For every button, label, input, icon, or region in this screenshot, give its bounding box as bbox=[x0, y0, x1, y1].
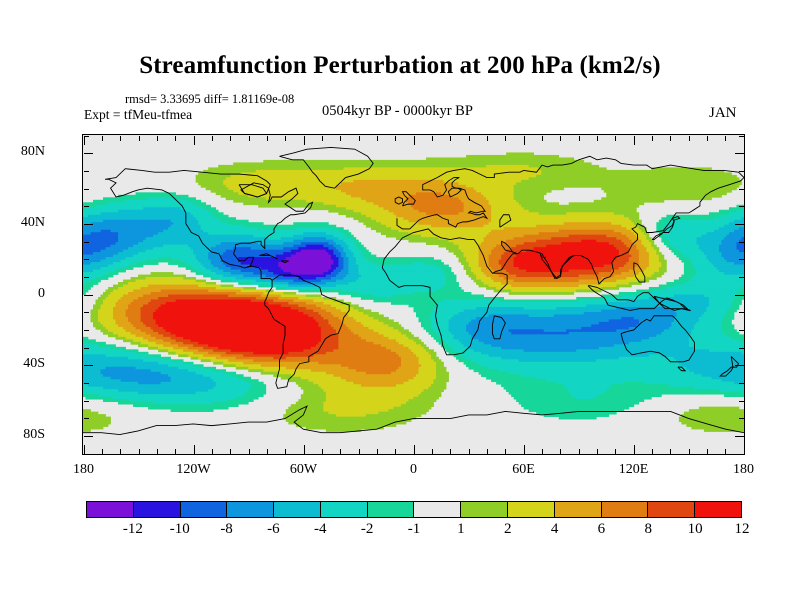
colorbar-tick-label: -8 bbox=[202, 521, 252, 538]
tick-mark bbox=[84, 295, 93, 296]
tick-mark bbox=[84, 418, 89, 419]
tick-mark bbox=[739, 348, 744, 349]
tick-mark bbox=[84, 436, 93, 437]
tick-mark bbox=[340, 449, 341, 454]
colorbar-tick-label: -12 bbox=[108, 521, 158, 538]
colorbar-tick-label: 2 bbox=[483, 521, 533, 538]
colorbar bbox=[86, 501, 742, 518]
tick-mark bbox=[157, 136, 158, 141]
tick-mark bbox=[707, 136, 708, 141]
tick-mark bbox=[739, 242, 744, 243]
tick-mark bbox=[84, 383, 89, 384]
colorbar-swatch bbox=[602, 502, 649, 517]
tick-mark bbox=[102, 449, 103, 454]
tick-mark bbox=[120, 136, 121, 141]
tick-mark bbox=[670, 136, 671, 141]
tick-mark bbox=[744, 445, 745, 454]
tick-mark bbox=[212, 136, 213, 141]
tick-mark bbox=[84, 224, 93, 225]
tick-mark bbox=[377, 449, 378, 454]
tick-mark bbox=[615, 136, 616, 141]
y-tick-label: 40S bbox=[0, 357, 45, 371]
tick-mark bbox=[120, 449, 121, 454]
tick-mark bbox=[377, 136, 378, 141]
tick-mark bbox=[194, 445, 195, 454]
tick-mark bbox=[634, 136, 635, 145]
tick-mark bbox=[739, 136, 744, 137]
tick-mark bbox=[739, 277, 744, 278]
tick-mark bbox=[285, 449, 286, 454]
experiment-annotation: Expt = tfMeu-tfmea bbox=[84, 107, 192, 123]
tick-mark bbox=[739, 189, 744, 190]
tick-mark bbox=[84, 206, 89, 207]
colorbar-tick-label: -2 bbox=[342, 521, 392, 538]
tick-mark bbox=[175, 136, 176, 141]
tick-mark bbox=[560, 449, 561, 454]
tick-mark bbox=[689, 449, 690, 454]
colorbar-swatch bbox=[227, 502, 274, 517]
tick-mark bbox=[739, 383, 744, 384]
tick-mark bbox=[615, 449, 616, 454]
tick-mark bbox=[322, 449, 323, 454]
tick-mark bbox=[735, 153, 744, 154]
tick-mark bbox=[139, 449, 140, 454]
tick-mark bbox=[84, 445, 85, 454]
y-tick-label: 80S bbox=[0, 428, 45, 442]
colorbar-swatch bbox=[414, 502, 461, 517]
tick-mark bbox=[267, 449, 268, 454]
figure-canvas: Streamfunction Perturbation at 200 hPa (… bbox=[0, 0, 800, 600]
tick-mark bbox=[450, 136, 451, 141]
tick-mark bbox=[84, 171, 89, 172]
y-tick-label: 80N bbox=[0, 145, 45, 159]
colorbar-swatch bbox=[508, 502, 555, 517]
tick-mark bbox=[735, 224, 744, 225]
x-tick-label: 120E bbox=[594, 462, 674, 478]
colorbar-swatch bbox=[134, 502, 181, 517]
tick-mark bbox=[505, 136, 506, 141]
tick-mark bbox=[230, 136, 231, 141]
tick-mark bbox=[735, 295, 744, 296]
x-tick-label: 180 bbox=[704, 462, 784, 478]
tick-mark bbox=[542, 136, 543, 141]
x-tick-label: 120W bbox=[154, 462, 234, 478]
x-tick-label: 60W bbox=[264, 462, 344, 478]
tick-mark bbox=[739, 401, 744, 402]
colorbar-swatch bbox=[274, 502, 321, 517]
colorbar-tick-label: 6 bbox=[576, 521, 626, 538]
tick-mark bbox=[505, 449, 506, 454]
tick-mark bbox=[285, 136, 286, 141]
tick-mark bbox=[652, 449, 653, 454]
tick-mark bbox=[739, 454, 744, 455]
tick-mark bbox=[84, 153, 93, 154]
tick-mark bbox=[84, 330, 89, 331]
tick-mark bbox=[739, 330, 744, 331]
tick-mark bbox=[524, 136, 525, 145]
x-tick-label: 0 bbox=[374, 462, 454, 478]
colorbar-tick-label: 1 bbox=[436, 521, 486, 538]
tick-mark bbox=[739, 206, 744, 207]
tick-mark bbox=[230, 449, 231, 454]
tick-mark bbox=[84, 277, 89, 278]
tick-mark bbox=[267, 136, 268, 141]
tick-mark bbox=[102, 136, 103, 141]
tick-mark bbox=[432, 449, 433, 454]
tick-mark bbox=[84, 401, 89, 402]
tick-mark bbox=[579, 449, 580, 454]
tick-mark bbox=[634, 445, 635, 454]
period-annotation: 0504kyr BP - 0000kyr BP bbox=[322, 103, 473, 120]
map-plot-area bbox=[82, 134, 745, 455]
colorbar-swatch bbox=[181, 502, 228, 517]
tick-mark bbox=[395, 136, 396, 141]
tick-mark bbox=[212, 449, 213, 454]
colorbar-tick-label: 12 bbox=[717, 521, 767, 538]
colorbar-swatch bbox=[555, 502, 602, 517]
colorbar-tick-label: -10 bbox=[155, 521, 205, 538]
tick-mark bbox=[84, 259, 89, 260]
tick-mark bbox=[84, 136, 85, 145]
tick-mark bbox=[739, 312, 744, 313]
rmsd-annotation: rmsd= 3.33695 diff= 1.81169e-08 bbox=[125, 92, 294, 107]
tick-mark bbox=[304, 136, 305, 145]
page-title: Streamfunction Perturbation at 200 hPa (… bbox=[0, 52, 800, 80]
tick-mark bbox=[689, 136, 690, 141]
tick-mark bbox=[739, 171, 744, 172]
colorbar-tick-label: 8 bbox=[623, 521, 673, 538]
tick-mark bbox=[469, 449, 470, 454]
tick-mark bbox=[84, 312, 89, 313]
tick-mark bbox=[735, 365, 744, 366]
y-tick-label: 40N bbox=[0, 216, 45, 230]
tick-mark bbox=[84, 365, 93, 366]
tick-mark bbox=[157, 449, 158, 454]
tick-mark bbox=[414, 445, 415, 454]
colorbar-tick-label: 10 bbox=[670, 521, 720, 538]
tick-mark bbox=[249, 449, 250, 454]
tick-mark bbox=[744, 136, 745, 145]
tick-mark bbox=[359, 449, 360, 454]
tick-mark bbox=[725, 449, 726, 454]
colorbar-tick-label: -6 bbox=[248, 521, 298, 538]
tick-mark bbox=[560, 136, 561, 141]
x-tick-label: 180 bbox=[44, 462, 124, 478]
x-tick-label: 60E bbox=[484, 462, 564, 478]
tick-mark bbox=[84, 189, 89, 190]
colorbar-swatch bbox=[461, 502, 508, 517]
tick-mark bbox=[707, 449, 708, 454]
tick-mark bbox=[249, 136, 250, 141]
tick-mark bbox=[84, 136, 89, 137]
colorbar-swatch bbox=[695, 502, 741, 517]
tick-mark bbox=[194, 136, 195, 145]
tick-mark bbox=[84, 348, 89, 349]
colorbar-tick-label: -1 bbox=[389, 521, 439, 538]
tick-mark bbox=[579, 136, 580, 141]
tick-mark bbox=[524, 445, 525, 454]
tick-mark bbox=[739, 259, 744, 260]
tick-mark bbox=[414, 136, 415, 145]
tick-mark bbox=[739, 418, 744, 419]
tick-mark bbox=[652, 136, 653, 141]
tick-mark bbox=[450, 449, 451, 454]
tick-mark bbox=[432, 136, 433, 141]
tick-mark bbox=[322, 136, 323, 141]
colorbar-tick-label: 4 bbox=[530, 521, 580, 538]
tick-mark bbox=[597, 449, 598, 454]
tick-mark bbox=[487, 449, 488, 454]
tick-mark bbox=[359, 136, 360, 141]
colorbar-tick-label: -4 bbox=[295, 521, 345, 538]
y-tick-label: 0 bbox=[0, 287, 45, 301]
colorbar-swatch bbox=[368, 502, 415, 517]
colorbar-swatch bbox=[648, 502, 695, 517]
tick-mark bbox=[469, 136, 470, 141]
tick-mark bbox=[487, 136, 488, 141]
tick-mark bbox=[670, 449, 671, 454]
colorbar-swatch bbox=[321, 502, 368, 517]
tick-mark bbox=[735, 436, 744, 437]
tick-mark bbox=[340, 136, 341, 141]
tick-mark bbox=[395, 449, 396, 454]
month-annotation: JAN bbox=[709, 105, 737, 122]
tick-mark bbox=[597, 136, 598, 141]
colorbar-swatch bbox=[87, 502, 134, 517]
tick-mark bbox=[304, 445, 305, 454]
coastline-overlay bbox=[83, 135, 744, 454]
tick-mark bbox=[542, 449, 543, 454]
tick-mark bbox=[139, 136, 140, 141]
tick-mark bbox=[84, 242, 89, 243]
tick-mark bbox=[84, 454, 89, 455]
tick-mark bbox=[175, 449, 176, 454]
tick-mark bbox=[725, 136, 726, 141]
